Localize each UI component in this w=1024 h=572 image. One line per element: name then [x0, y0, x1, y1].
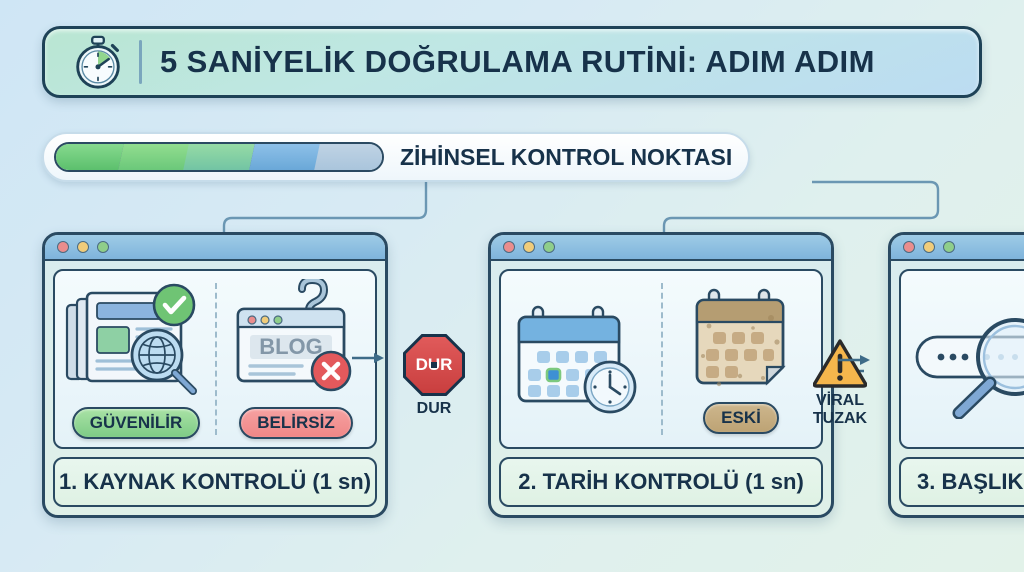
window-dot-red-icon	[503, 241, 515, 253]
card1-left-pill: GÜVENİLİR	[72, 407, 201, 439]
aged-calendar-icon	[685, 284, 797, 396]
stop-sign-icon: DUR	[403, 334, 465, 396]
card-kaynak-kontrolu[interactable]: GÜVENİLİR BLOG	[42, 232, 388, 518]
card1-divider	[215, 283, 217, 435]
window-dot-yellow-icon	[923, 241, 935, 253]
card3-left-panel	[901, 271, 1024, 447]
newspaper-globe-magnifier-icon	[61, 279, 211, 401]
checkpoint-label: ZİHİNSEL KONTROL NOKTASI	[400, 144, 732, 171]
stop-sign-text: DUR	[416, 355, 453, 375]
window-dot-yellow-icon	[77, 241, 89, 253]
card3-footer-label: 3. BAŞLIK-	[899, 457, 1024, 507]
card1-window-titlebar	[45, 235, 385, 261]
header-banner: 5 SANİYELİK DOĞRULAMA RUTİNİ: ADIM ADIM	[42, 26, 982, 98]
card-tarih-kontrolu[interactable]: ESKİ 2. TARİH KONTROLÜ (1 sn)	[488, 232, 834, 518]
card-baslik-kontrolu[interactable]: 3. BAŞLIK-	[888, 232, 1024, 518]
card2-left-panel	[501, 271, 661, 447]
card2-window-titlebar	[491, 235, 831, 261]
page-title: 5 SANİYELİK DOĞRULAMA RUTİNİ: ADIM ADIM	[160, 44, 875, 80]
blog-label: BLOG	[259, 334, 323, 359]
card2-footer-label: 2. TARİH KONTROLÜ (1 sn)	[499, 457, 823, 507]
progress-segment-1	[54, 144, 125, 170]
window-dot-green-icon	[97, 241, 109, 253]
window-dot-yellow-icon	[523, 241, 535, 253]
calendar-clock-icon	[511, 299, 651, 419]
card3-body	[899, 269, 1024, 449]
marker-viral-tuzak-label: VİRAL TUZAK	[813, 392, 867, 427]
card1-body: GÜVENİLİR BLOG	[53, 269, 377, 449]
window-dot-green-icon	[543, 241, 555, 253]
title-separator	[139, 40, 142, 84]
blog-window-question-icon: BLOG	[230, 279, 362, 401]
mental-checkpoint-bar: ZİHİNSEL KONTROL NOKTASI	[42, 132, 750, 182]
card1-left-panel: GÜVENİLİR	[55, 271, 217, 447]
card1-footer-label: 1. KAYNAK KONTROLÜ (1 sn)	[53, 457, 377, 507]
window-dot-red-icon	[57, 241, 69, 253]
arrow-marker2-to-card3	[838, 352, 872, 368]
window-dot-red-icon	[903, 241, 915, 253]
progress-segment-5	[315, 144, 384, 170]
progress-bar	[54, 142, 384, 172]
card2-right-pill: ESKİ	[703, 402, 779, 434]
infographic-canvas: 5 SANİYELİK DOĞRULAMA RUTİNİ: ADIM ADIM …	[0, 0, 1024, 572]
marker-dur: DUR DUR	[386, 334, 482, 418]
progress-segment-4	[249, 144, 322, 170]
progress-segment-2	[118, 144, 191, 170]
card2-divider	[661, 283, 663, 435]
marker-dur-label: DUR	[417, 400, 452, 418]
search-bar-magnifier-icon	[911, 299, 1024, 419]
card1-right-pill: BELİRSİZ	[239, 407, 352, 439]
card2-body: ESKİ	[499, 269, 823, 449]
stopwatch-icon	[69, 33, 127, 91]
progress-segment-3	[183, 144, 256, 170]
card3-window-titlebar	[891, 235, 1024, 261]
window-dot-green-icon	[943, 241, 955, 253]
arrow-card1-to-marker1	[352, 350, 386, 366]
stop-sign-face: DUR	[406, 337, 462, 393]
